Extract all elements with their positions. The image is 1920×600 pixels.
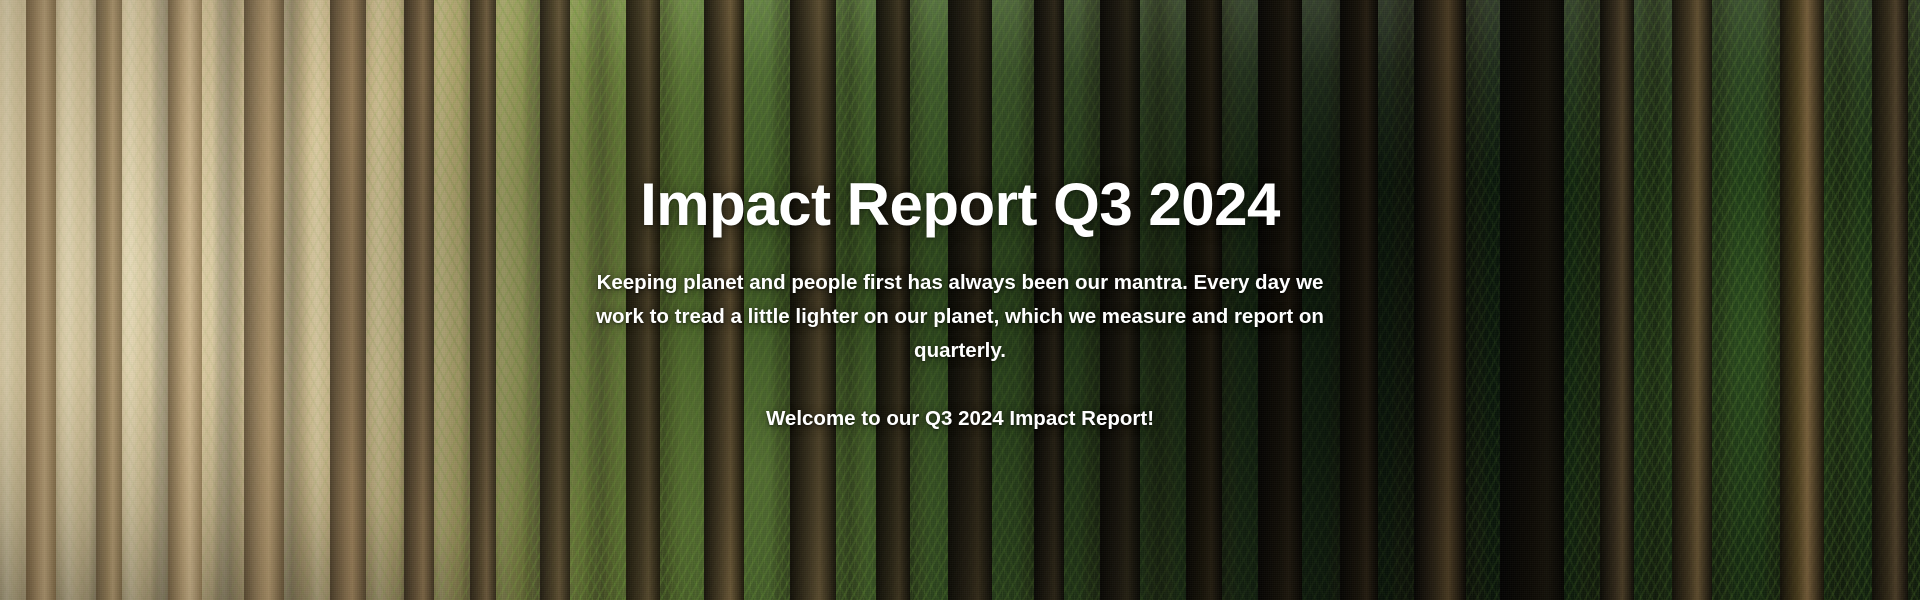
hero-banner: Impact Report Q3 2024 Keeping planet and… bbox=[0, 0, 1920, 600]
hero-welcome-message: Welcome to our Q3 2024 Impact Report! bbox=[766, 402, 1154, 436]
hero-description: Keeping planet and people first has alwa… bbox=[590, 266, 1330, 368]
page-title: Impact Report Q3 2024 bbox=[640, 172, 1280, 238]
hero-content: Impact Report Q3 2024 Keeping planet and… bbox=[0, 0, 1920, 600]
